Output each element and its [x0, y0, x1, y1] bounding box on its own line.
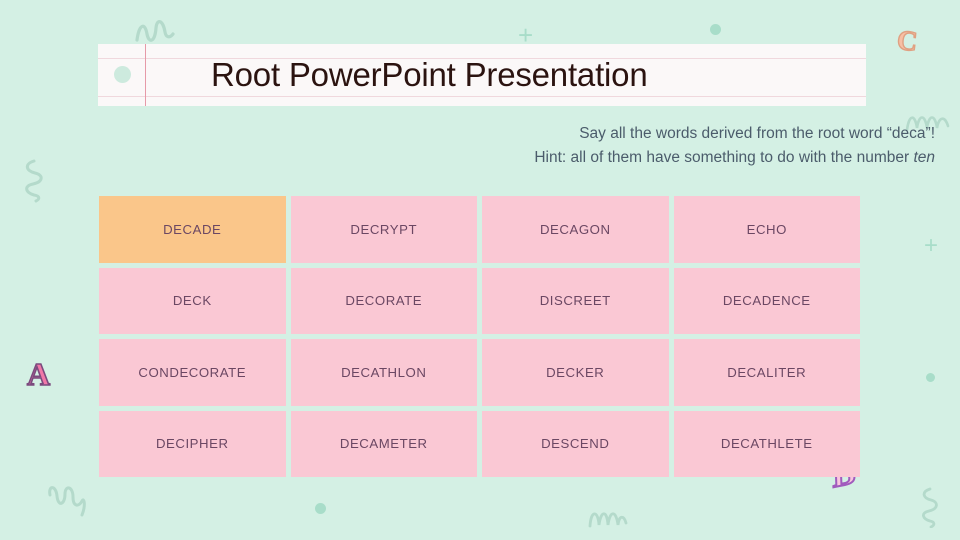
word-cell[interactable]: DECIPHER	[99, 411, 286, 478]
instruction-line-2: Hint: all of them have something to do w…	[534, 146, 935, 170]
letter-a-icon: A	[27, 358, 50, 390]
letter-c-icon: C	[896, 27, 919, 57]
dot-icon	[710, 24, 721, 35]
squiggle-icon	[587, 506, 629, 530]
page-title: Root PowerPoint Presentation	[211, 56, 647, 94]
word-cell[interactable]: DECKER	[482, 339, 669, 406]
squiggle-icon	[18, 158, 48, 204]
word-cell[interactable]: DECAGON	[482, 196, 669, 263]
word-cell[interactable]: DECORATE	[291, 268, 478, 335]
word-grid: DECADEDECRYPTDECAGONECHODECKDECORATEDISC…	[99, 196, 860, 477]
dot-icon	[926, 373, 935, 382]
paper-margin-line	[145, 44, 146, 106]
word-cell[interactable]: DECALITER	[674, 339, 861, 406]
dot-icon	[315, 503, 326, 514]
squiggle-icon	[915, 486, 943, 528]
word-cell[interactable]: CONDECORATE	[99, 339, 286, 406]
squiggle-icon	[133, 14, 177, 46]
word-cell[interactable]: DECATHLON	[291, 339, 478, 406]
word-cell[interactable]: DECATHLETE	[674, 411, 861, 478]
word-cell[interactable]: DESCEND	[482, 411, 669, 478]
word-cell[interactable]: DECAMETER	[291, 411, 478, 478]
instruction-line-1: Say all the words derived from the root …	[534, 122, 935, 146]
hint-emphasis: ten	[913, 149, 935, 166]
title-card: Root PowerPoint Presentation	[98, 44, 866, 106]
word-cell[interactable]: ECHO	[674, 196, 861, 263]
word-cell[interactable]: DECK	[99, 268, 286, 335]
plus-icon: +	[924, 234, 938, 258]
hint-text: Hint: all of them have something to do w…	[534, 149, 913, 166]
word-cell[interactable]: DISCREET	[482, 268, 669, 335]
punch-hole-dot-icon	[114, 66, 131, 83]
word-cell[interactable]: DECADENCE	[674, 268, 861, 335]
paper-rule-line-bottom	[98, 96, 866, 97]
instructions-block: Say all the words derived from the root …	[534, 122, 935, 170]
word-cell[interactable]: DECRYPT	[291, 196, 478, 263]
squiggle-icon	[44, 483, 90, 523]
word-cell[interactable]: DECADE	[99, 196, 286, 263]
